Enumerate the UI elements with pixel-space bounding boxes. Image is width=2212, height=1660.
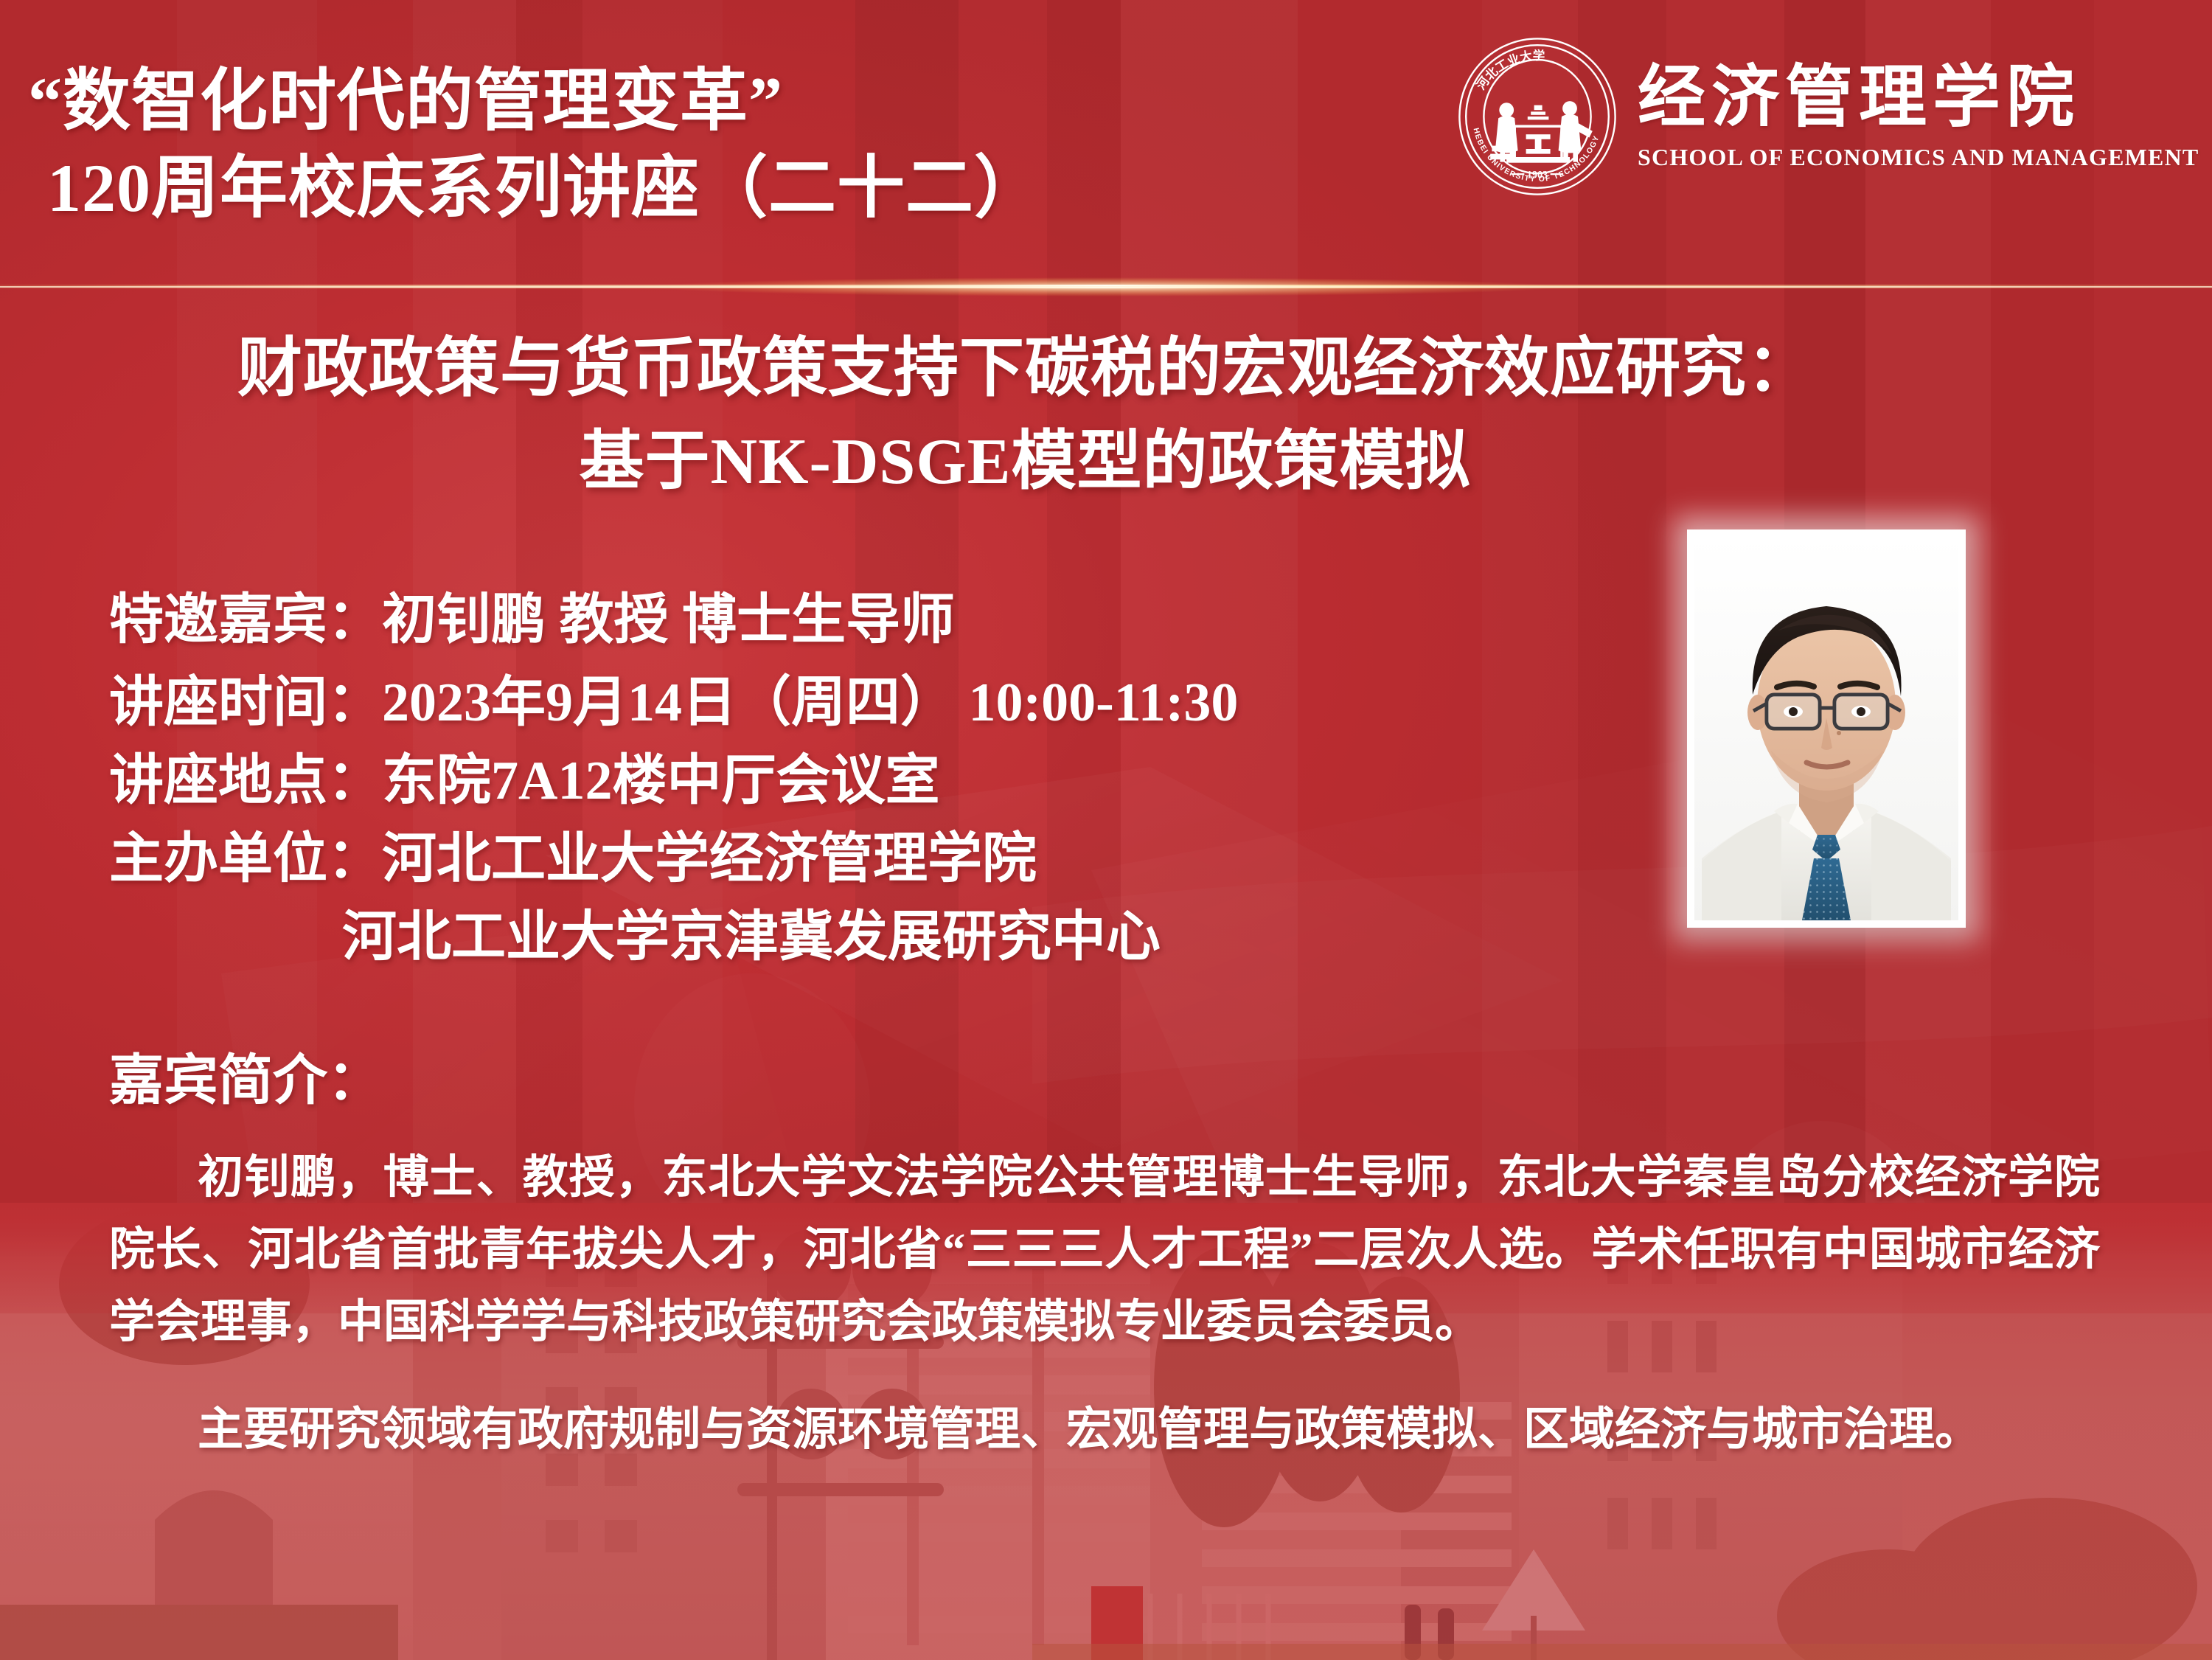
detail-label-time: 讲座时间： [109,664,382,742]
detail-value-time: 2023年9月14日（周四） 10:00-11:30 [382,664,1238,742]
detail-value-guest: 初钊鹏 教授 博士生导师 [382,581,955,659]
school-logo-block: 河北工业大学 HEBEI UNIVERSITY OF TECHNOLOGY 19… [1456,35,2199,198]
detail-row-location: 讲座地点： 东院7A12楼中厅会议室 [109,742,1643,820]
poster-header: “数智化时代的管理变革” 120周年校庆系列讲座（二十二） [0,0,2212,289]
bio-paragraph-1: 初钊鹏，博士、教授，东北大学文法学院公共管理博士生导师，东北大学秦皇岛分校经济学… [109,1142,2100,1358]
detail-value-organizer: 河北工业大学经济管理学院 [382,820,1037,898]
series-title-line1: “数智化时代的管理变革” [28,63,783,139]
detail-label-organizer: 主办单位： [109,820,382,898]
svg-text:1903: 1903 [1527,170,1548,181]
detail-label-guest: 特邀嘉宾： [109,581,382,659]
speaker-portrait-image [1694,537,1958,920]
bio-body: 初钊鹏，博士、教授，东北大学文法学院公共管理博士生导师，东北大学秦皇岛分校经济学… [109,1142,2100,1466]
lecture-title-line2: 基于NK-DSGE模型的政策模拟 [0,416,2050,509]
detail-row-time: 讲座时间： 2023年9月14日（周四） 10:00-11:30 [109,664,1643,742]
svg-text:河北工业大学: 河北工业大学 [1474,48,1545,92]
detail-row-guest: 特邀嘉宾： 初钊鹏 教授 博士生导师 [109,581,1643,659]
lecture-title-line1: 财政政策与货币政策支持下碳税的宏观经济效应研究： [0,323,2050,416]
detail-row-organizer: 主办单位： 河北工业大学经济管理学院 [109,820,1643,898]
university-seal-icon: 河北工业大学 HEBEI UNIVERSITY OF TECHNOLOGY 19… [1456,35,1618,198]
gold-divider [0,277,2212,296]
detail-label-location: 讲座地点： [109,742,382,820]
lecture-poster: “数智化时代的管理变革” 120周年校庆系列讲座（二十二） [0,0,2212,1660]
speaker-portrait [1687,529,1966,928]
detail-value-location: 东院7A12楼中厅会议室 [382,742,939,820]
series-title: “数智化时代的管理变革” 120周年校庆系列讲座（二十二） [28,58,1043,232]
detail-row-organizer-second: 河北工业大学京津冀发展研究中心 [109,898,1643,976]
detail-value-organizer-second: 河北工业大学京津冀发展研究中心 [342,898,1161,976]
lecture-details: 特邀嘉宾： 初钊鹏 教授 博士生导师 讲座时间： 2023年9月14日（周四） … [109,581,1643,976]
bio-paragraph-2: 主要研究领域有政府规制与资源环境管理、宏观管理与政策模拟、区域经济与城市治理。 [109,1394,2100,1466]
school-name-en: SCHOOL OF ECONOMICS AND MANAGEMENT [1638,140,2199,174]
lecture-title: 财政政策与货币政策支持下碳税的宏观经济效应研究： 基于NK-DSGE模型的政策模… [0,323,2050,509]
school-name-cn: 经济管理学院 [1638,59,2199,136]
bio-heading: 嘉宾简介： [109,1046,382,1116]
series-title-line2: 120周年校庆系列讲座（二十二） [28,145,1043,232]
